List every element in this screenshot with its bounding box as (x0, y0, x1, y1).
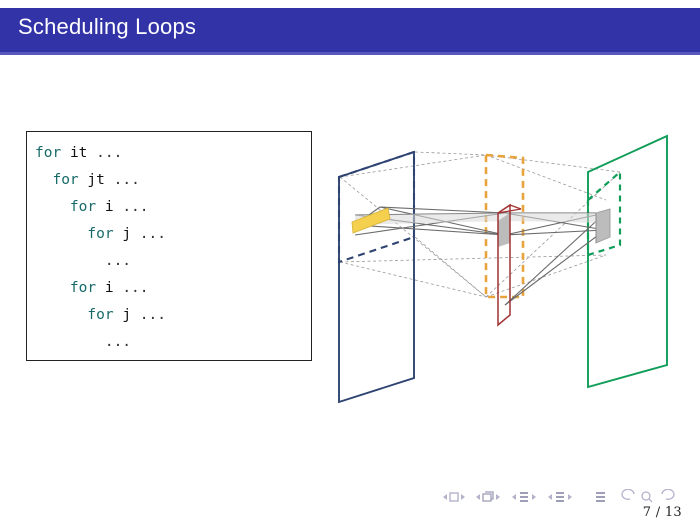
code-keyword: for (70, 280, 96, 296)
slide-nav-prev-icon[interactable] (440, 489, 470, 505)
page-number: 7 / 13 (643, 505, 682, 520)
source-plane-blue (339, 152, 414, 402)
code-ellipsis: ... (140, 226, 166, 242)
code-keyword: for (87, 226, 113, 242)
code-variable: i (105, 280, 114, 296)
frame-nav-icon[interactable] (474, 489, 504, 505)
code-keyword: for (87, 307, 113, 323)
code-variable: j (122, 226, 131, 242)
document-nav-icon[interactable] (588, 489, 618, 505)
target-tile-gray (596, 209, 610, 243)
gray-box-face (596, 209, 610, 243)
code-keyword: for (35, 145, 61, 161)
code-variable: it (70, 145, 87, 161)
code-variable: i (105, 199, 114, 215)
page-title: Scheduling Loops (18, 14, 196, 40)
code-ellipsis: ... (105, 334, 131, 350)
target-plane-green (588, 136, 667, 387)
middle-tile-red (498, 205, 521, 325)
code-variable: j (122, 307, 131, 323)
title-bar-underline (0, 52, 700, 55)
code-ellipsis: ... (96, 145, 122, 161)
iteration-space-mapping-diagram (320, 125, 690, 420)
target-plane-outline (588, 136, 667, 387)
code-ellipsis: ... (122, 199, 148, 215)
subsection-nav-icon[interactable] (510, 489, 540, 505)
code-variable: jt (87, 172, 104, 188)
perspective-guide-lines (340, 152, 620, 297)
source-tile-yellow (352, 208, 390, 233)
code-block: for it ... for jt ... for i ... for j ..… (26, 131, 312, 361)
source-plane-dashed-region (339, 152, 414, 262)
source-plane-outline (339, 152, 414, 402)
code-keyword: for (52, 172, 78, 188)
yellow-tile (352, 208, 390, 233)
search-nav-icon (642, 492, 652, 502)
code-ellipsis: ... (140, 307, 166, 323)
red-box-top-right-edge (510, 205, 521, 209)
code-keyword: for (70, 199, 96, 215)
code-ellipsis: ... (114, 172, 140, 188)
code-ellipsis: ... (122, 280, 148, 296)
beamer-navigation-bar[interactable]: 7 / 13 (440, 489, 690, 523)
section-nav-icon[interactable] (546, 489, 576, 505)
history-nav-icons[interactable] (620, 489, 676, 505)
code-ellipsis: ... (105, 253, 131, 269)
code-listing: for it ... for jt ... for i ... for j ..… (35, 140, 166, 356)
